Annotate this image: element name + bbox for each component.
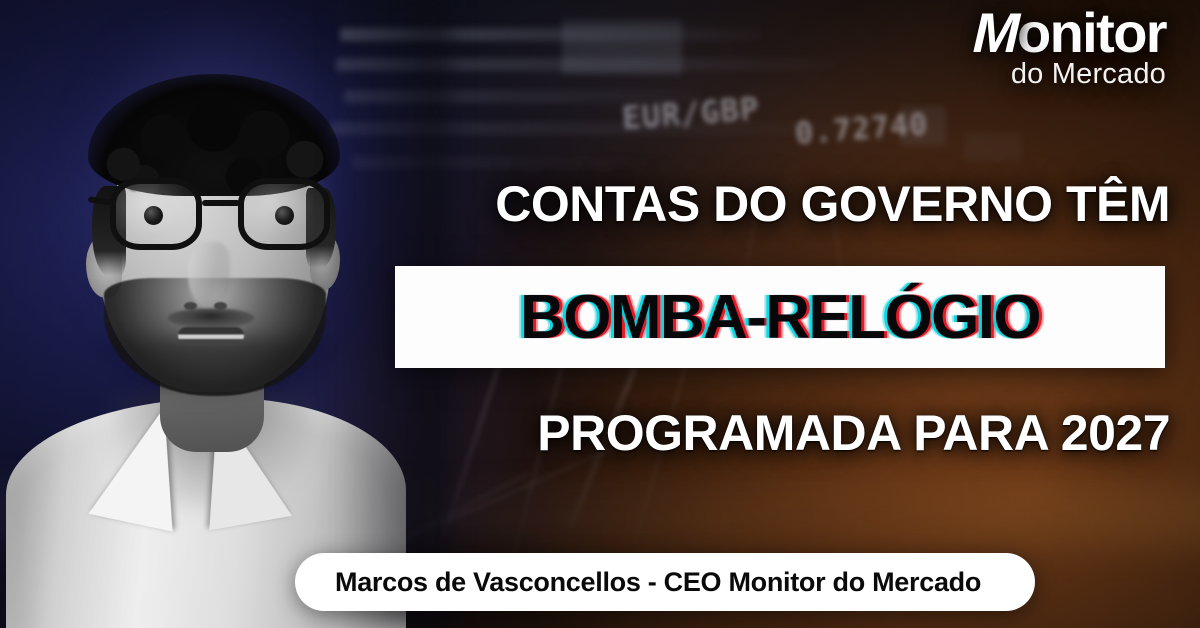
headline-highlight-wrap: BOMBA-RELÓGIO	[395, 266, 1165, 368]
brand-logo[interactable]: Monitor do Mercado	[973, 6, 1166, 91]
brand-logo-m-glyph: M	[972, 6, 1018, 61]
brand-logo-name: Monitor	[973, 6, 1166, 61]
speaker-caption-pill: Marcos de Vasconcellos - CEO Monitor do …	[295, 553, 1035, 611]
headline-line-2-highlight: BOMBA-RELÓGIO	[520, 282, 1040, 353]
brand-logo-name-rest: onitor	[1017, 1, 1166, 64]
speaker-caption-text: Marcos de Vasconcellos - CEO Monitor do …	[335, 567, 981, 598]
headline-block: CONTAS DO GOVERNO TÊM BOMBA-RELÓGIO PROG…	[0, 0, 1200, 628]
headline-line-3: PROGRAMADA PARA 2027	[537, 404, 1170, 462]
thumbnail-canvas: EUR/GBP 0.72740	[0, 0, 1200, 628]
headline-line-1: CONTAS DO GOVERNO TÊM	[495, 175, 1170, 233]
